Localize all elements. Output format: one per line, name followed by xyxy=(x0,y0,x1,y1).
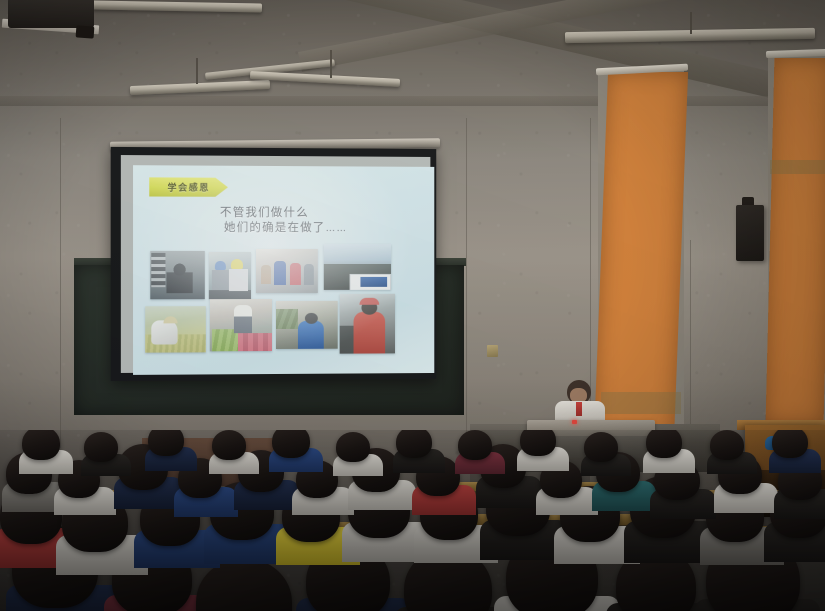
ceiling-beam xyxy=(0,96,825,106)
student-audience xyxy=(0,430,825,611)
audience-member-head xyxy=(272,430,310,458)
wall-speaker xyxy=(736,205,764,261)
audience-member-head xyxy=(458,430,492,460)
wall-seam xyxy=(60,118,61,448)
wall-seam xyxy=(690,240,691,440)
projector-lens xyxy=(76,25,95,38)
audience-member-head xyxy=(584,432,618,462)
projection-screen: 学会感恩 不管我们做什么 她们的确是在做了…… xyxy=(111,147,437,381)
slide-photo-construction-workers xyxy=(209,252,251,299)
auditorium-photo: 学会感恩 不管我们做什么 她们的确是在做了…… xyxy=(0,0,825,611)
audience-member-head xyxy=(336,432,370,462)
slide-photo-street-market xyxy=(256,249,318,293)
projector-body xyxy=(8,0,94,28)
presenter-tie xyxy=(576,402,582,416)
slide-photo-red-clothing-person xyxy=(340,294,395,354)
slide-photo-grid xyxy=(133,165,434,375)
slide-photo-blue-shirt-worker xyxy=(276,301,338,349)
light-hanger-rod xyxy=(330,50,332,78)
ceiling-projector xyxy=(2,0,100,44)
presentation-slide: 学会感恩 不管我们做什么 她们的确是在做了…… xyxy=(133,165,434,375)
wall-switch[interactable] xyxy=(487,345,498,357)
curtain-band xyxy=(601,392,681,414)
audience-member-head xyxy=(84,432,118,462)
audience-member-head xyxy=(396,430,432,458)
audience-member-head xyxy=(212,430,246,460)
audience-member-head xyxy=(148,430,184,456)
window-curtain-right[interactable] xyxy=(766,58,825,424)
slide-photo-farmer-field xyxy=(145,306,206,352)
slide-photo-cyclist xyxy=(150,251,205,299)
audience-member-head xyxy=(646,430,682,458)
slide-photo-roadside-sign xyxy=(324,244,391,290)
slide-photo-vegetable-vendor xyxy=(210,299,272,351)
light-hanger-rod xyxy=(196,58,198,84)
audience-member-head xyxy=(22,430,60,460)
curtain-band xyxy=(770,160,825,174)
wall-seam xyxy=(466,118,467,448)
screen-surface: 学会感恩 不管我们做什么 她们的确是在做了…… xyxy=(121,155,431,373)
light-hanger-rod xyxy=(690,12,692,34)
audience-member-head xyxy=(772,430,808,458)
audience-member-head xyxy=(520,430,556,456)
audience-member-head xyxy=(710,430,744,460)
podium-indicator-light xyxy=(572,420,577,424)
